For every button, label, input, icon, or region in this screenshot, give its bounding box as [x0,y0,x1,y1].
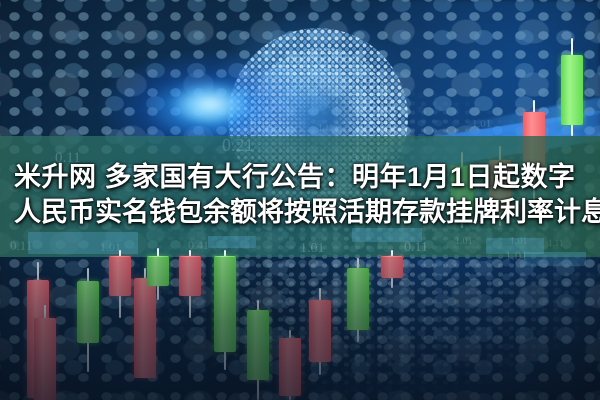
vignette-overlay [0,0,600,400]
thumbnail-image: 0.110.213.111.010.111.010.411.010.111.01… [0,0,600,400]
